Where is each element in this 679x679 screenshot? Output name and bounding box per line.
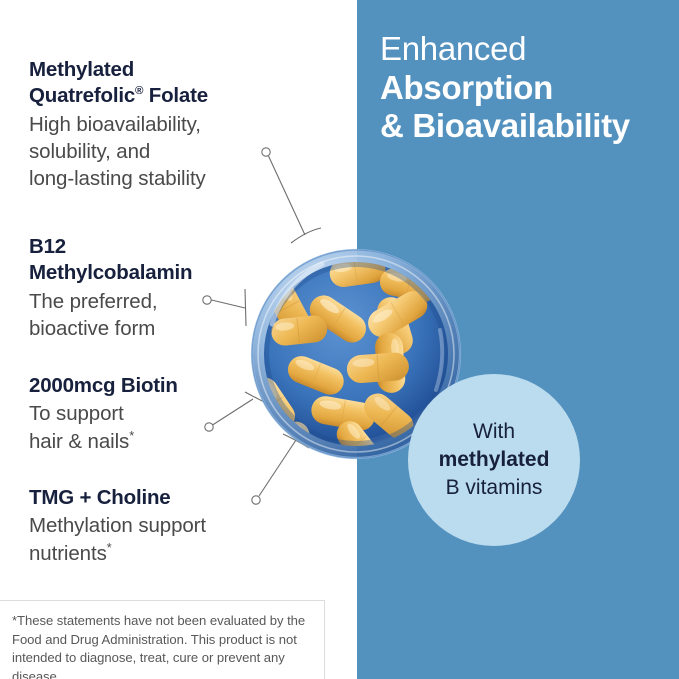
feature-desc-line-3: long-lasting stability	[29, 167, 206, 190]
feature-title-line-2: Methylcobalamin	[29, 261, 192, 284]
fda-disclaimer: *These statements have not been evaluate…	[0, 600, 325, 679]
badge-line-3: B vitamins	[446, 474, 543, 502]
feature-title-line-2-tail: Folate	[143, 84, 208, 107]
feature-title-line-1: Methylated	[29, 58, 134, 81]
headline-line-1: Enhanced	[380, 30, 670, 69]
feature-item-folate: Methylated Quatrefolic® Folate High bioa…	[29, 57, 297, 193]
feature-desc-line-2: solubility, and	[29, 140, 150, 163]
feature-desc-line-1: To support	[29, 402, 124, 425]
headline-line-3: & Bioavailability	[380, 107, 670, 146]
disclaimer-text: *These statements have not been evaluate…	[12, 612, 310, 679]
feature-desc-line-1: The preferred,	[29, 290, 158, 313]
infographic-page: Enhanced Absorption & Bioavailability	[0, 0, 679, 679]
feature-title: TMG + Choline	[29, 485, 297, 511]
feature-desc-line-2: bioactive form	[29, 317, 155, 340]
feature-desc-line-1: High bioavailability,	[29, 113, 201, 136]
headline-line-2: Absorption	[380, 69, 670, 108]
feature-description: High bioavailability, solubility, and lo…	[29, 111, 297, 193]
badge-line-1: With	[473, 418, 515, 446]
status-badge: With methylated B vitamins	[408, 374, 580, 546]
feature-item-tmg-choline: TMG + Choline Methylation support nutrie…	[29, 485, 297, 567]
feature-title-line-1: B12	[29, 235, 66, 258]
feature-title: Methylated Quatrefolic® Folate	[29, 57, 297, 110]
asterisk-icon: *	[129, 428, 134, 443]
badge-line-2: methylated	[439, 446, 550, 474]
feature-title-line-1: TMG + Choline	[29, 486, 170, 509]
feature-description: Methylation support nutrients*	[29, 512, 297, 567]
feature-desc-line-2: hair & nails	[29, 430, 129, 453]
feature-title-line-2: Quatrefolic	[29, 84, 135, 107]
page-title: Enhanced Absorption & Bioavailability	[380, 30, 670, 146]
feature-desc-line-2: nutrients	[29, 542, 107, 565]
asterisk-icon: *	[107, 540, 112, 555]
feature-desc-line-1: Methylation support	[29, 514, 206, 537]
feature-title-line-1: 2000mcg Biotin	[29, 374, 178, 397]
